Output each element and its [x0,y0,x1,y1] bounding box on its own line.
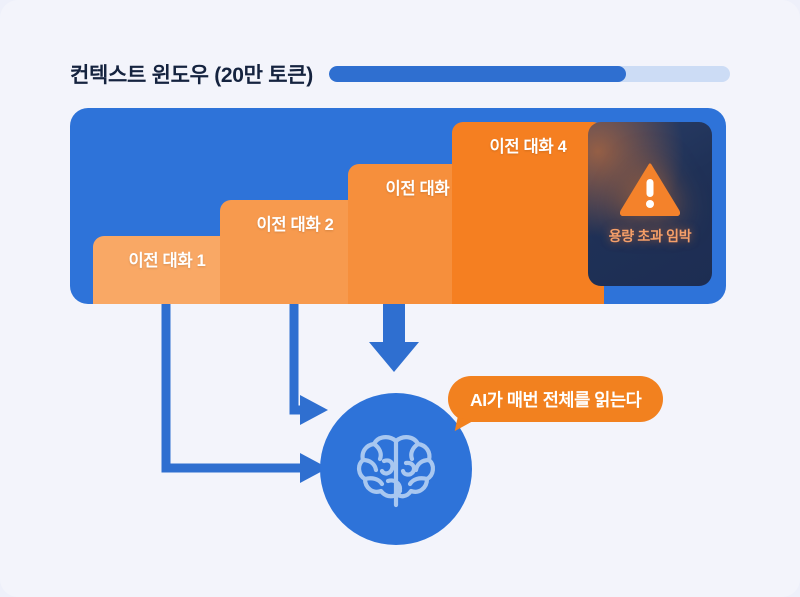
context-usage-progress-fill [329,66,626,82]
context-window-container: 이전 대화 1 이전 대화 2 이전 대화 3 이전 대화 4 용량 초과 임박 [70,108,726,304]
page-title: 컨텍스트 윈도우 (20만 토큰) [70,59,313,89]
ai-speech-bubble: AI가 매번 전체를 읽는다 [448,376,663,422]
feedback-arrow-inner [294,304,328,425]
brain-icon [348,421,444,517]
conversation-block-1[interactable]: 이전 대화 1 [93,236,241,304]
capacity-warning-label: 용량 초과 임박 [609,226,692,246]
warning-triangle-icon [620,163,680,216]
feedback-arrow-outer [166,304,328,483]
context-usage-progress [329,66,730,82]
conversation-block-4[interactable]: 이전 대화 4 [452,122,604,304]
input-arrow-down [369,304,419,372]
ai-brain-node[interactable] [320,393,472,545]
context-window-header: 컨텍스트 윈도우 (20만 토큰) [70,57,730,91]
capacity-warning-panel: 용량 초과 임박 [588,122,712,286]
diagram-canvas: 컨텍스트 윈도우 (20만 토큰) 이전 대화 1 이전 대화 2 이전 대화 … [0,0,800,597]
speech-bubble-tail [455,417,474,434]
ai-speech-text: AI가 매번 전체를 읽는다 [470,387,641,412]
